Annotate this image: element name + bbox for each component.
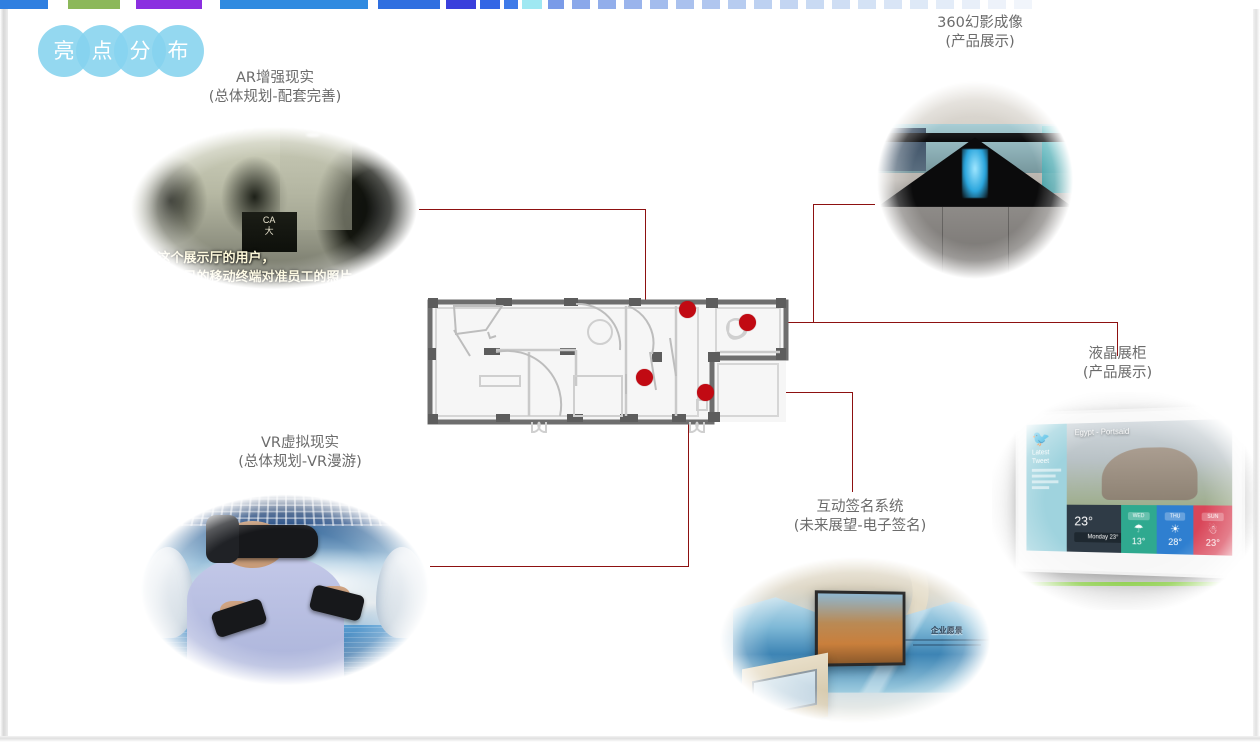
- callout-label-holo: 360幻影成像 (产品展示): [880, 14, 1080, 52]
- callout-subtitle-ar: (总体规划-配套完善): [160, 88, 390, 107]
- color-strip-segment-34: [746, 0, 754, 9]
- callout-label-ar: AR增强现实 (总体规划-配套完善): [160, 69, 390, 107]
- color-strip-segment-55: [1014, 0, 1032, 9]
- vr-person-body: [187, 555, 343, 689]
- lcd-forecast-tile-3: SUN ☃ 23°: [1194, 506, 1232, 555]
- color-strip-segment-6: [202, 0, 220, 9]
- color-strip-segment-51: [962, 0, 980, 9]
- color-strip-segment-52: [980, 0, 988, 9]
- marker-ar[interactable]: [679, 301, 696, 318]
- color-strip-segment-31: [702, 0, 720, 9]
- color-strip-segment-28: [668, 0, 676, 9]
- ar-subtitle-text: 来访这个展示厅的用户， 可以把自己的移动终端对准员工的照片: [131, 249, 423, 287]
- color-strip-segment-39: [806, 0, 824, 9]
- page-frame-bottom: [0, 736, 1260, 742]
- color-strip-segment-47: [910, 0, 928, 9]
- color-strip-segment-8: [368, 0, 378, 9]
- callout-title-holo: 360幻影成像: [880, 14, 1080, 33]
- title-char-4: 布: [168, 41, 189, 62]
- ar-subtitle-line-2: 可以把自己的移动终端对准员工的照片: [131, 270, 352, 285]
- page-frame-left: [0, 9, 8, 742]
- photo-lcd-display-cabinet[interactable]: 🐦 Latest Tweet Egypt - Portsaid 23°: [992, 392, 1258, 610]
- slide-canvas: 亮 点 分 布: [0, 0, 1260, 742]
- lcd-current-temp: 23°: [1074, 515, 1120, 529]
- lcd-green-accent-bar: [1009, 582, 1254, 586]
- color-strip-segment-2: [48, 0, 68, 9]
- page-frame-right: [1253, 9, 1260, 742]
- callout-subtitle-holo: (产品展示): [880, 33, 1080, 52]
- title-char-1: 亮: [54, 41, 75, 62]
- photo-vr-virtual-reality[interactable]: [122, 482, 448, 698]
- sign-vision-title: 企业愿景: [898, 625, 996, 636]
- marker-vr[interactable]: [636, 369, 653, 386]
- lcd-current-weather: 23° Monday 23°: [1067, 505, 1121, 552]
- callout-label-lcd: 液晶展柜 (产品展示): [1030, 345, 1205, 383]
- lcd-location-label: Egypt - Portsaid: [1075, 428, 1130, 438]
- lcd-main-panel: Egypt - Portsaid 23° Monday 23° WED ☂: [1067, 419, 1232, 556]
- color-strip-segment-48: [928, 0, 936, 9]
- lcd-weather-strip: 23° Monday 23° WED ☂ 13° THU ☀: [1067, 505, 1232, 555]
- lcd-screen: 🐦 Latest Tweet Egypt - Portsaid 23°: [1026, 419, 1232, 556]
- holo-ceiling: [864, 68, 1086, 126]
- umbrella-icon: ☂: [1134, 523, 1144, 536]
- photo-vr-scene: [122, 482, 448, 698]
- color-strip-segment-25: [624, 0, 642, 9]
- color-strip-segment-11: [446, 0, 476, 9]
- ar-ceiling-light-3: [306, 133, 320, 137]
- ar-standee-poster: CA大: [242, 212, 297, 252]
- photo-holo-scene: [864, 68, 1086, 292]
- connector-ar-horizontal: [419, 209, 646, 210]
- callout-title-vr: VR虚拟现实: [190, 434, 410, 453]
- color-strip-segment-22: [590, 0, 598, 9]
- callout-subtitle-vr: (总体规划-VR漫游): [190, 453, 410, 472]
- vr-ceiling-grid: [162, 488, 409, 526]
- lcd-forecast-tag-3: SUN: [1202, 513, 1224, 521]
- sign-wall-monitor: [815, 590, 905, 667]
- color-strip-segment-50: [954, 0, 962, 9]
- color-strip-segment-27: [650, 0, 668, 9]
- callout-subtitle-sign: (未来展望-电子签名): [760, 517, 960, 536]
- color-strip-segment-26: [642, 0, 650, 9]
- color-strip-segment-44: [876, 0, 884, 9]
- color-strip-segment-53: [988, 0, 1006, 9]
- title-char-3: 分: [130, 41, 151, 62]
- ar-ceiling-light-2: [235, 123, 249, 127]
- color-strip-segment-43: [858, 0, 876, 9]
- color-strip-segment-29: [676, 0, 694, 9]
- photo-360-hologram[interactable]: [864, 68, 1086, 292]
- color-strip-segment-33: [728, 0, 746, 9]
- connector-holo-vertical: [813, 204, 814, 323]
- lcd-forecast-value-3: 23°: [1206, 538, 1220, 549]
- color-strip-segment-23: [598, 0, 616, 9]
- marker-sign[interactable]: [697, 384, 714, 401]
- color-strip-segment-49: [936, 0, 954, 9]
- lcd-forecast-tile-1: WED ☂ 13°: [1121, 506, 1157, 554]
- floor-plan[interactable]: [424, 290, 792, 436]
- connector-holo-horizontal: [755, 322, 1117, 323]
- connector-sign-vertical: [852, 392, 853, 492]
- lcd-forecast-value-1: 13°: [1132, 536, 1145, 546]
- holo-projection: [962, 149, 989, 198]
- color-strip-segment-42: [850, 0, 858, 9]
- lcd-twitter-title: Latest Tweet: [1032, 448, 1061, 466]
- color-strip-segment-35: [754, 0, 772, 9]
- holo-cabinet: [877, 207, 1072, 292]
- twitter-bird-icon: 🐦: [1032, 431, 1061, 449]
- photo-interactive-signature-system[interactable]: 企业愿景: [702, 546, 1008, 734]
- photo-sign-scene: 企业愿景: [702, 546, 1008, 734]
- lcd-bezel: 🐦 Latest Tweet Egypt - Portsaid 23°: [1016, 405, 1245, 579]
- color-strip-segment-45: [884, 0, 902, 9]
- callout-label-sign: 互动签名系统 (未来展望-电子签名): [760, 498, 960, 536]
- color-strip-segment-46: [902, 0, 910, 9]
- color-strip-segment-21: [572, 0, 590, 9]
- callout-label-vr: VR虚拟现实 (总体规划-VR漫游): [190, 434, 410, 472]
- lcd-forecast-tag-1: WED: [1128, 512, 1149, 520]
- ar-subtitle-line-1: 来访这个展示厅的用户，: [131, 251, 274, 266]
- ar-ceiling-light-4: [358, 142, 372, 146]
- color-strip-segment-41: [832, 0, 850, 9]
- thermometer-icon: ☃: [1208, 524, 1218, 538]
- vr-headset: [220, 525, 318, 557]
- photo-lcd-scene: 🐦 Latest Tweet Egypt - Portsaid 23°: [992, 392, 1258, 610]
- color-strip-segment-30: [694, 0, 702, 9]
- color-strip-segment-3: [68, 0, 120, 9]
- color-strip-segment-37: [780, 0, 798, 9]
- color-strip-segment-7: [220, 0, 368, 9]
- color-strip-segment-32: [720, 0, 728, 9]
- color-strip-segment-5: [136, 0, 202, 9]
- color-strip-segment-17: [522, 0, 542, 9]
- marker-holo[interactable]: [739, 314, 756, 331]
- color-strip-segment-38: [798, 0, 806, 9]
- color-strip-segment-19: [548, 0, 564, 9]
- lcd-forecast-tag-2: THU: [1165, 513, 1186, 521]
- callout-title-ar: AR增强现实: [160, 69, 390, 88]
- color-strip-segment-4: [120, 0, 136, 9]
- title-char-2: 点: [92, 41, 113, 62]
- color-strip-segment-54: [1006, 0, 1014, 9]
- color-strip-segment-40: [824, 0, 832, 9]
- sign-vision-text-block: 企业愿景: [898, 625, 996, 649]
- callout-title-sign: 互动签名系统: [760, 498, 960, 517]
- lcd-forecast-tile-2: THU ☀ 28°: [1157, 506, 1194, 555]
- connector-vr-horizontal: [430, 566, 689, 567]
- color-strip-segment-9: [378, 0, 440, 9]
- color-strip-segment-15: [504, 0, 518, 9]
- lcd-forecast-value-2: 28°: [1168, 537, 1182, 547]
- lcd-twitter-panel: 🐦 Latest Tweet: [1026, 424, 1066, 552]
- sign-signature-pad: [752, 668, 817, 716]
- color-strip-segment-24: [616, 0, 624, 9]
- color-strip-segment-36: [772, 0, 780, 9]
- callout-title-lcd: 液晶展柜: [1030, 345, 1205, 364]
- lcd-hero-image: Egypt - Portsaid: [1067, 419, 1232, 506]
- lcd-sphinx-graphic: [1101, 448, 1197, 501]
- callout-subtitle-lcd: (产品展示): [1030, 364, 1205, 383]
- color-strip-segment-13: [480, 0, 500, 9]
- ar-ceiling-light-1: [164, 127, 178, 131]
- photo-ar-augmented-reality[interactable]: CA大 来访这个展示厅的用户， 可以把自己的移动终端对准员工的照片: [112, 116, 436, 300]
- sign-monitor-image: [818, 593, 903, 663]
- photo-ar-scene: CA大 来访这个展示厅的用户， 可以把自己的移动终端对准员工的照片: [112, 116, 436, 300]
- color-strip-segment-1: [0, 0, 48, 9]
- color-strip-segment-20: [564, 0, 572, 9]
- sun-icon: ☀: [1170, 524, 1180, 537]
- decorative-color-strip: [0, 0, 1260, 9]
- floorplan-rooms: [430, 300, 786, 422]
